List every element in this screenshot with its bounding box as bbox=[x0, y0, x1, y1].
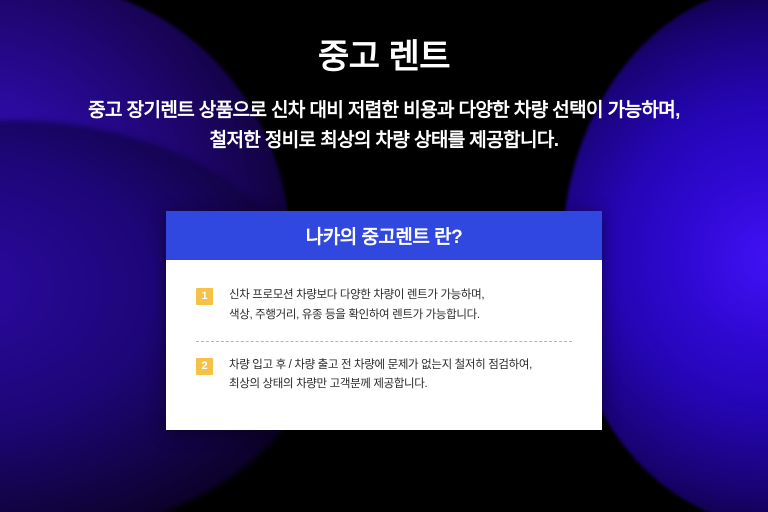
background-blob-blue-right-glow bbox=[640, 120, 768, 400]
list-item: 1 신차 프로모션 차량보다 다양한 차량이 렌트가 가능하며, 색상, 주행거… bbox=[196, 286, 572, 326]
page-subtitle-line-2: 철저한 정비로 최상의 차량 상태를 제공합니다. bbox=[0, 126, 768, 156]
list-item-badge-1: 1 bbox=[196, 288, 213, 305]
list-item-text-1: 신차 프로모션 차량보다 다양한 차량이 렌트가 가능하며, 색상, 주행거리,… bbox=[229, 286, 484, 326]
list-divider bbox=[196, 341, 572, 342]
info-card: 나카의 중고렌트 란? 1 신차 프로모션 차량보다 다양한 차량이 렌트가 가… bbox=[166, 211, 602, 430]
list-item: 2 차량 입고 후 / 차량 출고 전 차량에 문제가 없는지 철저히 점검하여… bbox=[196, 356, 572, 396]
list-item-2-line-1: 차량 입고 후 / 차량 출고 전 차량에 문제가 없는지 철저히 점검하여, bbox=[229, 356, 532, 376]
list-item-2-line-2: 최상의 상태의 차량만 고객분께 제공합니다. bbox=[229, 375, 532, 395]
info-card-header: 나카의 중고렌트 란? bbox=[166, 211, 602, 260]
page-subtitle: 중고 장기렌트 상품으로 신차 대비 저렴한 비용과 다양한 차량 선택이 가능… bbox=[0, 79, 768, 156]
page-subtitle-line-1: 중고 장기렌트 상품으로 신차 대비 저렴한 비용과 다양한 차량 선택이 가능… bbox=[0, 96, 768, 126]
list-item-badge-2: 2 bbox=[196, 358, 213, 375]
list-item-1-line-2: 색상, 주행거리, 유종 등을 확인하여 렌트가 가능합니다. bbox=[229, 306, 484, 326]
list-item-text-2: 차량 입고 후 / 차량 출고 전 차량에 문제가 없는지 철저히 점검하여, … bbox=[229, 356, 532, 396]
hero-section: 중고 렌트 중고 장기렌트 상품으로 신차 대비 저렴한 비용과 다양한 차량 … bbox=[0, 0, 768, 156]
info-card-body: 1 신차 프로모션 차량보다 다양한 차량이 렌트가 가능하며, 색상, 주행거… bbox=[166, 260, 602, 430]
page-root: 중고 렌트 중고 장기렌트 상품으로 신차 대비 저렴한 비용과 다양한 차량 … bbox=[0, 0, 768, 512]
info-card-header-title: 나카의 중고렌트 란? bbox=[306, 222, 463, 249]
list-item-1-line-1: 신차 프로모션 차량보다 다양한 차량이 렌트가 가능하며, bbox=[229, 286, 484, 306]
page-title: 중고 렌트 bbox=[0, 0, 768, 79]
